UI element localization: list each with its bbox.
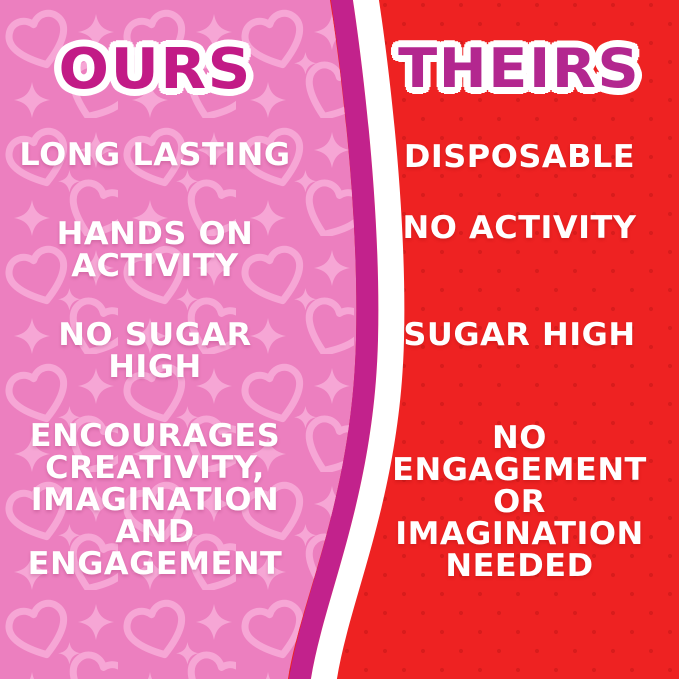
theirs-feature-2-line-0: SUGAR HIGH xyxy=(355,320,679,352)
theirs-feature-2: SUGAR HIGH xyxy=(355,320,679,352)
ours-feature-3: ENCOURAGES CREATIVITY, IMAGINATION AND E… xyxy=(0,421,315,581)
theirs-feature-3: NO ENGAGEMENT OR IMAGINATION NEEDED xyxy=(355,423,679,583)
ours-heading: OURS xyxy=(58,42,251,98)
ours-feature-1-line-0: HANDS ON xyxy=(0,219,315,251)
theirs-feature-3-line-1: ENGAGEMENT xyxy=(355,455,679,487)
theirs-feature-3-line-0: NO xyxy=(355,423,679,455)
ours-feature-0-line-0: LONG LASTING xyxy=(0,140,315,172)
theirs-feature-3-line-4: NEEDED xyxy=(355,551,679,583)
ours-feature-3-line-4: ENGAGEMENT xyxy=(0,549,315,581)
theirs-column: THEIRS DISPOSABLE NO ACTIVITY SUGAR HIGH… xyxy=(360,0,679,679)
theirs-feature-0-line-0: DISPOSABLE xyxy=(355,142,679,174)
ours-feature-1: HANDS ON ACTIVITY xyxy=(0,219,315,283)
ours-column: OURS LONG LASTING HANDS ON ACTIVITY NO S… xyxy=(0,0,310,679)
ours-feature-3-line-0: ENCOURAGES xyxy=(0,421,315,453)
ours-feature-2-line-1: HIGH xyxy=(0,352,315,384)
ours-feature-3-line-3: AND xyxy=(0,517,315,549)
theirs-feature-0: DISPOSABLE xyxy=(355,142,679,174)
comparison-poster: OURS LONG LASTING HANDS ON ACTIVITY NO S… xyxy=(0,0,679,679)
ours-feature-2: NO SUGAR HIGH xyxy=(0,320,315,384)
ours-feature-1-line-1: ACTIVITY xyxy=(0,251,315,283)
theirs-feature-1-line-0: NO ACTIVITY xyxy=(355,213,679,245)
theirs-feature-3-line-3: IMAGINATION xyxy=(355,519,679,551)
theirs-feature-3-line-2: OR xyxy=(355,487,679,519)
theirs-feature-1: NO ACTIVITY xyxy=(355,213,679,245)
ours-feature-3-line-1: CREATIVITY, xyxy=(0,453,315,485)
ours-feature-0: LONG LASTING xyxy=(0,140,315,172)
ours-feature-3-line-2: IMAGINATION xyxy=(0,485,315,517)
ours-feature-2-line-0: NO SUGAR xyxy=(0,320,315,352)
theirs-heading: THEIRS xyxy=(398,42,640,96)
